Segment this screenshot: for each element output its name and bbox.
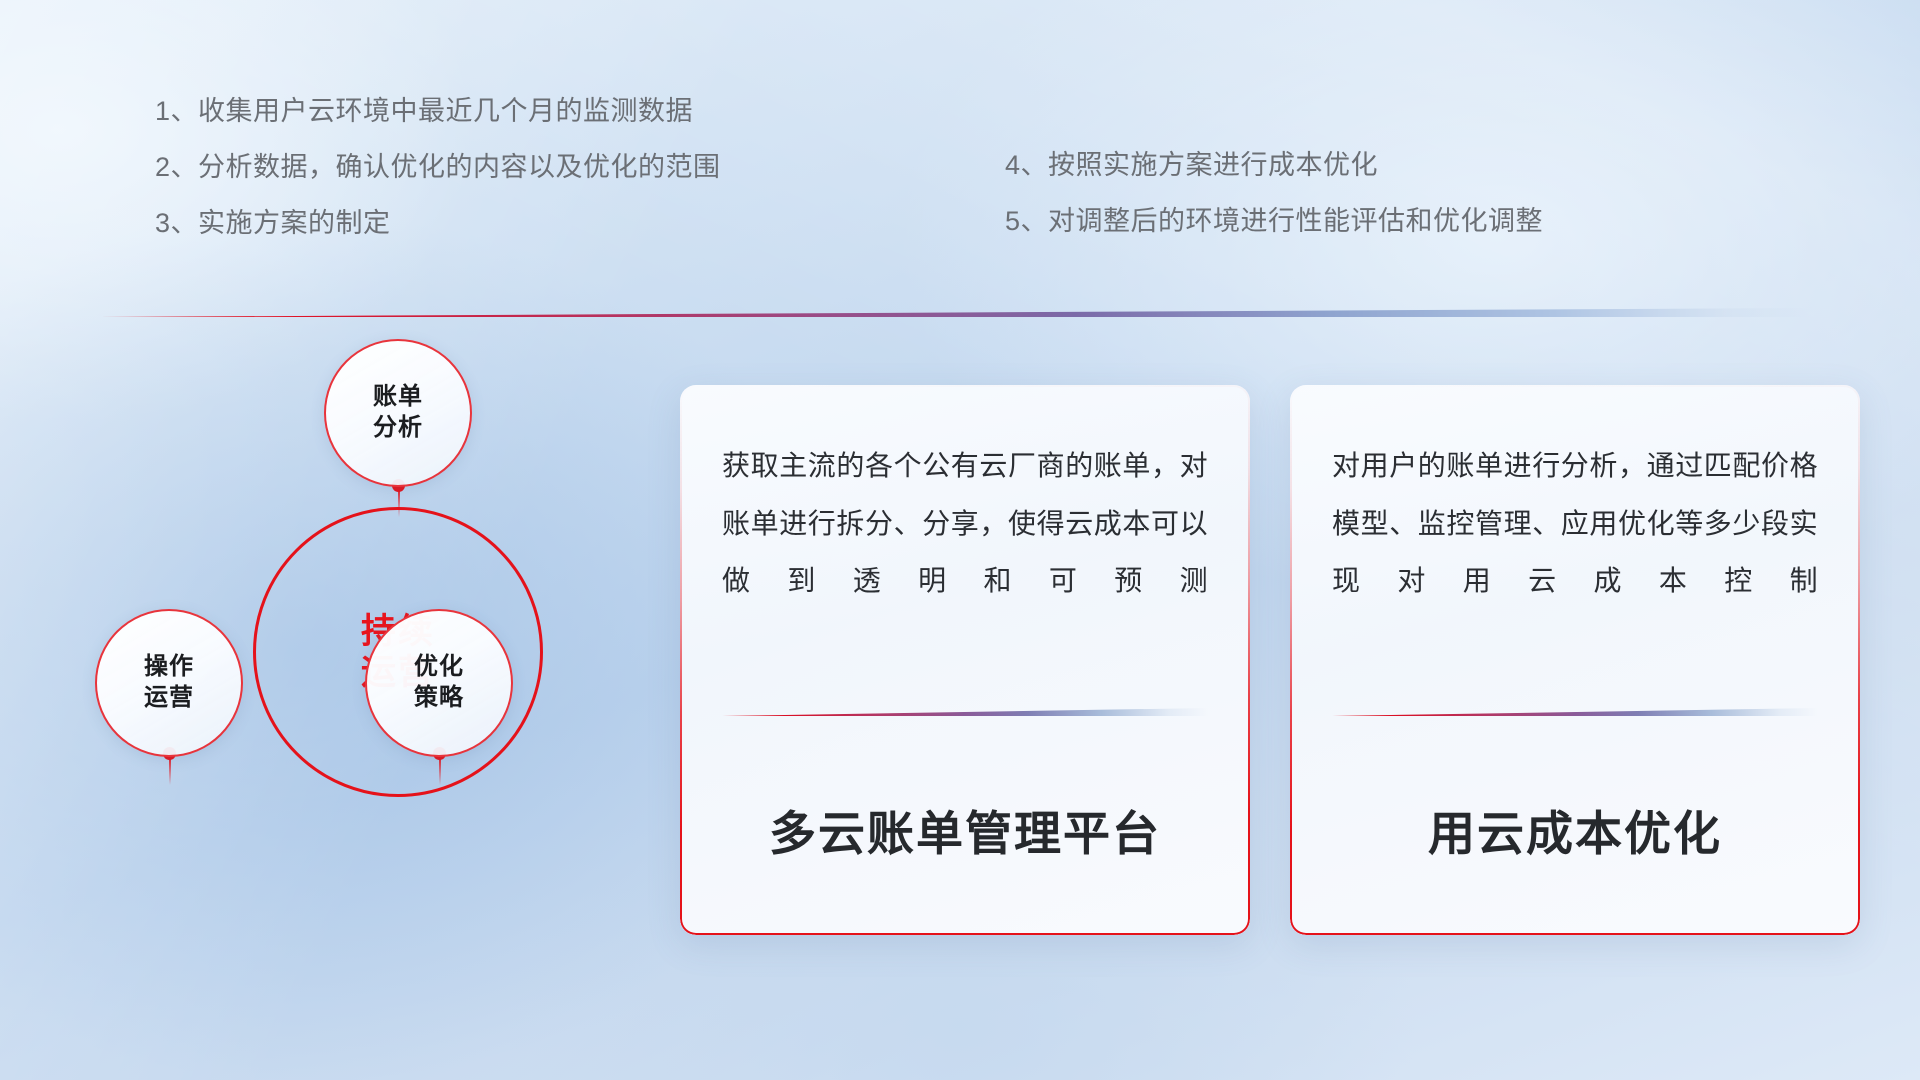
section-divider	[100, 308, 1810, 317]
diagram-node-operations[interactable]: 操作 运营	[95, 609, 243, 757]
card-divider	[1332, 708, 1818, 716]
node-label-line-2: 运营	[144, 683, 194, 714]
step-item: 3、实施方案的制定	[155, 210, 721, 237]
feature-card-multicloud-billing[interactable]: 获取主流的各个公有云厂商的账单，对账单进行拆分、分享，使得云成本可以做到透明和可…	[680, 385, 1250, 935]
node-label-line-2: 分析	[373, 413, 423, 444]
divider-bar	[100, 308, 1810, 317]
continuous-operation-diagram: 持续 运营 账单 分析 操作 运营 优化 策略	[95, 355, 625, 915]
node-label-line-1: 优化	[414, 652, 464, 683]
step-item: 2、分析数据，确认优化的内容以及优化的范围	[155, 154, 721, 181]
step-item: 1、收集用户云环境中最近几个月的监测数据	[155, 98, 721, 125]
connector-stem-left	[169, 759, 171, 785]
steps-left-column: 1、收集用户云环境中最近几个月的监测数据 2、分析数据，确认优化的内容以及优化的…	[155, 98, 721, 237]
diagram-node-optimization-strategy[interactable]: 优化 策略	[365, 609, 513, 757]
diagram-node-bill-analysis[interactable]: 账单 分析	[324, 339, 472, 487]
feature-card-cloud-cost-optimization[interactable]: 对用户的账单进行分析，通过匹配价格模型、监控管理、应用优化等多少段实现对用云成本…	[1290, 385, 1860, 935]
steps-right-column: 4、按照实施方案进行成本优化 5、对调整后的环境进行性能评估和优化调整	[1005, 152, 1543, 235]
card-title: 多云账单管理平台	[680, 795, 1250, 864]
node-label-line-1: 操作	[144, 652, 194, 683]
card-divider	[722, 708, 1208, 716]
card-description: 对用户的账单进行分析，通过匹配价格模型、监控管理、应用优化等多少段实现对用云成本…	[1332, 437, 1818, 610]
step-item: 5、对调整后的环境进行性能评估和优化调整	[1005, 208, 1543, 235]
card-divider-bar	[1332, 708, 1818, 716]
card-divider-bar	[722, 708, 1208, 716]
step-item: 4、按照实施方案进行成本优化	[1005, 152, 1543, 179]
node-label-line-1: 账单	[373, 382, 423, 413]
card-description: 获取主流的各个公有云厂商的账单，对账单进行拆分、分享，使得云成本可以做到透明和可…	[722, 437, 1208, 610]
card-title: 用云成本优化	[1290, 795, 1860, 864]
node-label-line-2: 策略	[414, 683, 464, 714]
